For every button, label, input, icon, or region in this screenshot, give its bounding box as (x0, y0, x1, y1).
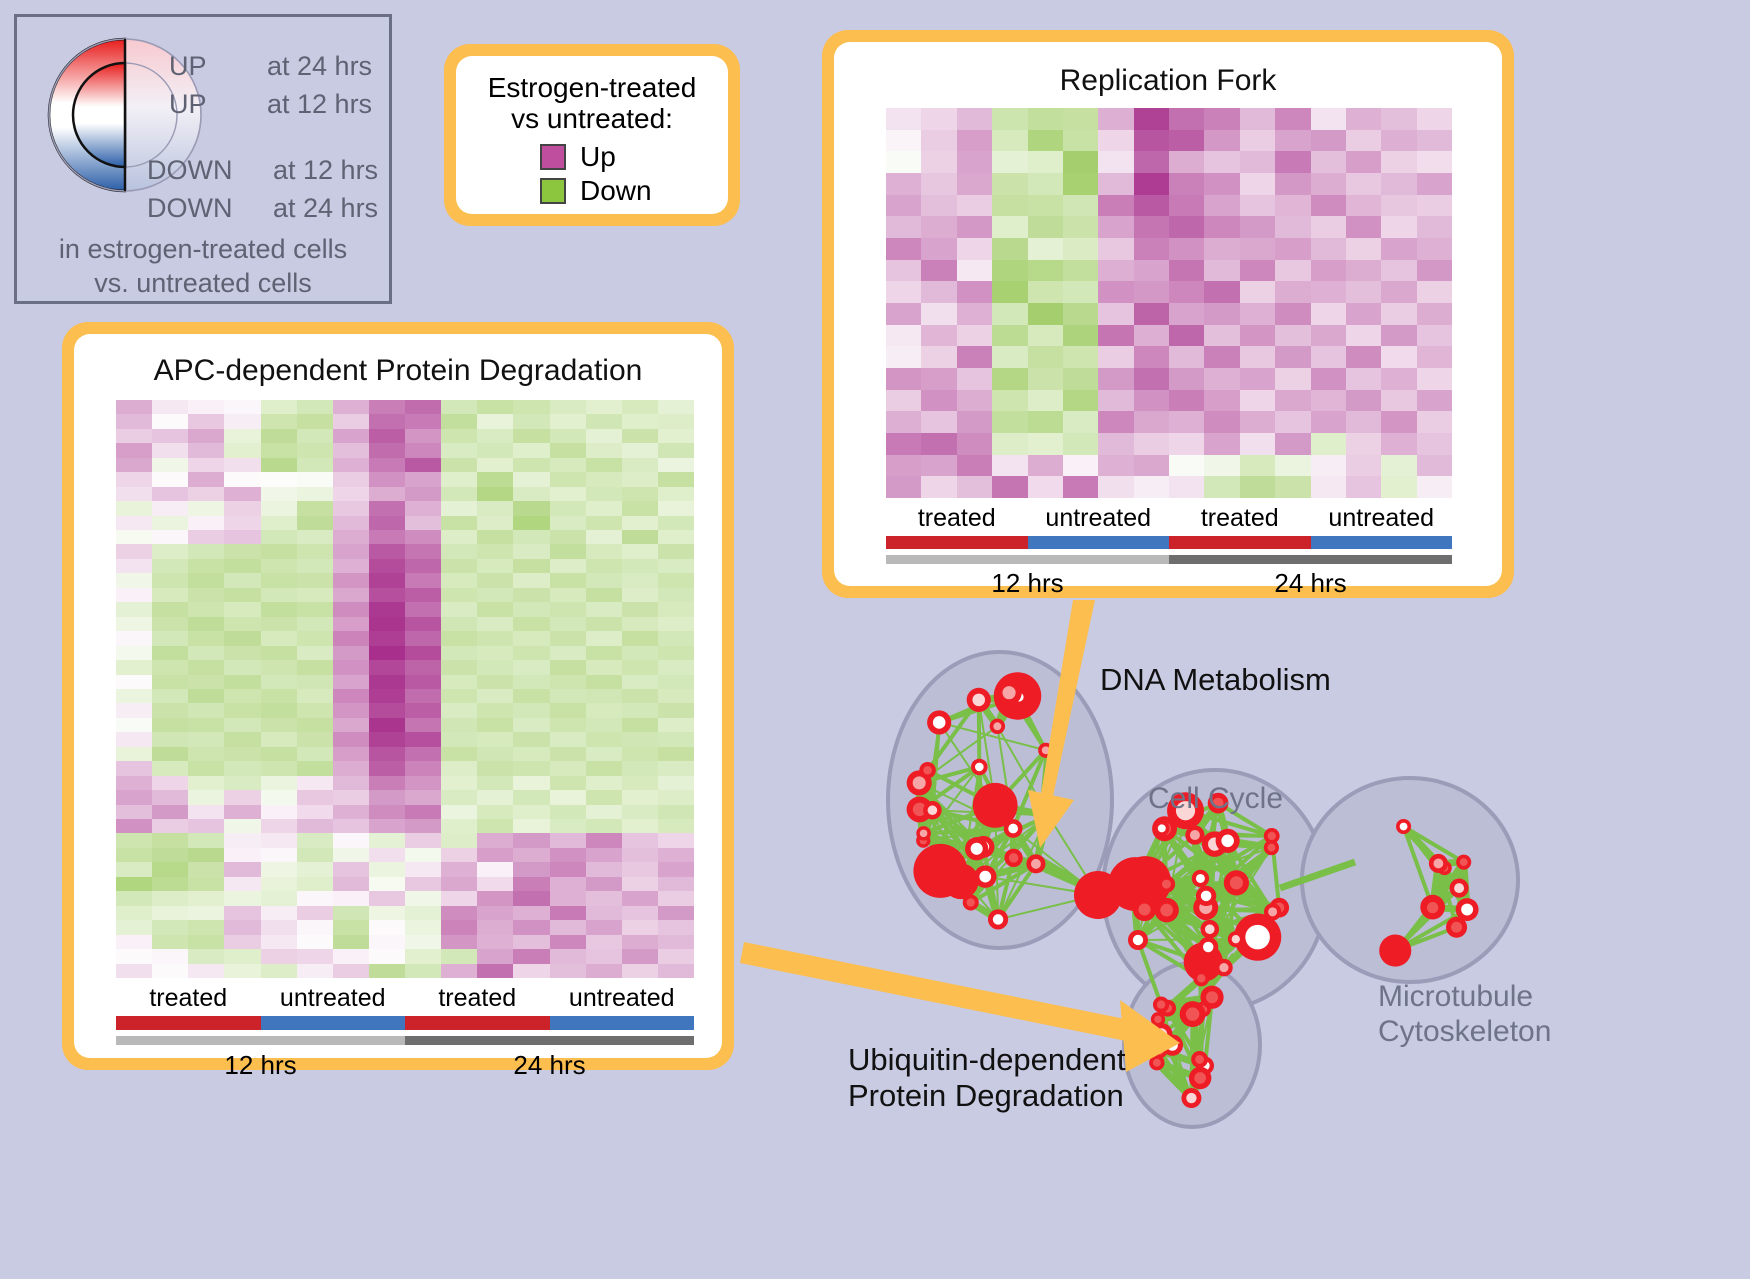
heatmap-cell (369, 443, 405, 457)
heatmap-cell (921, 216, 956, 238)
heatmap-cell (1240, 108, 1275, 130)
heatmap-cell (1063, 108, 1098, 130)
heatmap-cell (550, 920, 586, 934)
heatmap-cell (333, 617, 369, 631)
heatmap-cell (550, 429, 586, 443)
heatmap-cell (116, 964, 152, 978)
heatmap-cell (957, 390, 992, 412)
heatmap-cell (658, 935, 694, 949)
network-edge (1133, 888, 1144, 909)
heatmap-cell (586, 862, 622, 876)
heatmap-cell (297, 487, 333, 501)
heatmap-cell (297, 862, 333, 876)
network-edge (1206, 896, 1208, 947)
network-edge (1145, 910, 1204, 963)
network-node-core (1190, 830, 1200, 840)
heatmap-cell (116, 588, 152, 602)
heatmap-cell (513, 631, 549, 645)
heatmap-cell (261, 573, 297, 587)
network-edge (1203, 962, 1224, 967)
heatmap-cell (550, 617, 586, 631)
group-bar-segment (1169, 555, 1452, 564)
network-node-core (1009, 853, 1019, 863)
apc-time-label-12: 12 hrs (116, 1050, 405, 1081)
heatmap-cell (477, 675, 513, 689)
heatmap-cell (297, 761, 333, 775)
heatmap-cell (441, 805, 477, 819)
network-node (1193, 895, 1218, 920)
heatmap-cell (188, 949, 224, 963)
network-edge (1138, 940, 1224, 968)
heatmap-cell (1240, 411, 1275, 433)
heatmap-cell (586, 559, 622, 573)
network-node (1379, 935, 1411, 967)
heatmap-cell (188, 602, 224, 616)
network-node-core (1157, 1000, 1165, 1008)
heatmap-cell (297, 631, 333, 645)
heatmap-cell (886, 325, 921, 347)
heatmap-cell (513, 675, 549, 689)
heatmap-cell (1381, 390, 1416, 412)
heatmap-cell (297, 414, 333, 428)
heatmap-cell (622, 429, 658, 443)
network-edge (1133, 888, 1203, 962)
heatmap-cell (1240, 476, 1275, 498)
network-edge (1395, 888, 1459, 951)
heatmap-cell (405, 487, 441, 501)
heatmap-cell (1311, 238, 1346, 260)
heatmap-cell (658, 501, 694, 515)
legend-title-line1: Estrogen-treated (466, 72, 718, 103)
heatmap-cell (957, 433, 992, 455)
heatmap-cell (658, 544, 694, 558)
heatmap-cell (1028, 476, 1063, 498)
network-node (1264, 840, 1279, 855)
heatmap-cell (116, 530, 152, 544)
network-edge (961, 849, 977, 881)
network-edge (1191, 1009, 1203, 1098)
heatmap-cell (550, 819, 586, 833)
heatmap-cell (1063, 173, 1098, 195)
heatmap-cell (957, 325, 992, 347)
heatmap-cell (152, 443, 188, 457)
network-node-core (1400, 823, 1408, 831)
heatmap-cell (224, 732, 260, 746)
heatmap-cell (261, 617, 297, 631)
network-edge (1162, 828, 1167, 884)
heatmap-cell (1169, 281, 1204, 303)
replication-fork-time-bar (886, 555, 1452, 564)
group-bar-segment (1169, 536, 1311, 549)
network-node-core (1205, 924, 1215, 934)
heatmap-cell (224, 617, 260, 631)
heatmap-cell (333, 848, 369, 862)
heatmap-cell (1275, 303, 1310, 325)
legend-items: Up Down (466, 141, 718, 207)
heatmap-cell (477, 458, 513, 472)
network-edge (919, 783, 985, 877)
heatmap-cell (333, 718, 369, 732)
network-node-core (1426, 901, 1439, 914)
heatmap-cell (957, 455, 992, 477)
network-node (1151, 1012, 1165, 1026)
network-edge (1200, 878, 1209, 929)
heatmap-cell (1417, 173, 1452, 195)
network-node (1216, 829, 1240, 853)
network-node (907, 796, 933, 822)
network-edge (923, 841, 983, 847)
network-edge (1200, 1009, 1203, 1078)
heatmap-cell (658, 458, 694, 472)
network-edge (1013, 750, 1046, 828)
heatmap-cell (1063, 325, 1098, 347)
network-edge (1166, 883, 1236, 884)
heatmap-cell (513, 458, 549, 472)
network-node-core (1162, 880, 1171, 889)
heatmap-cell (116, 703, 152, 717)
heatmap-cell (261, 776, 297, 790)
up-color-swatch (540, 144, 566, 170)
heatmap-cell (658, 602, 694, 616)
heatmap-cell (1169, 411, 1204, 433)
heatmap-cell (658, 732, 694, 746)
heatmap-cell (1275, 195, 1310, 217)
heatmap-cell (513, 833, 549, 847)
heatmap-cell (1169, 130, 1204, 152)
heatmap-cell (224, 429, 260, 443)
network-edge (998, 895, 1098, 919)
heatmap-cell (1311, 108, 1346, 130)
heatmap-cell (992, 303, 1027, 325)
network-edge (1160, 1009, 1203, 1050)
heatmap-cell (477, 964, 513, 978)
network-edge (1272, 836, 1280, 908)
heatmap-cell (622, 660, 658, 674)
heatmap-cell (586, 703, 622, 717)
heatmap-cell (333, 487, 369, 501)
heatmap-cell (1275, 151, 1310, 173)
heatmap-cell (1098, 195, 1133, 217)
heatmap-cell (441, 544, 477, 558)
heatmap-cell (441, 718, 477, 732)
heatmap-cell (297, 689, 333, 703)
heatmap-cell (441, 819, 477, 833)
heatmap-cell (1381, 173, 1416, 195)
heatmap-cell (441, 703, 477, 717)
heatmap-cell (152, 414, 188, 428)
heatmap-cell (152, 487, 188, 501)
heatmap-cell (1028, 390, 1063, 412)
network-edge (1433, 908, 1468, 910)
network-edge (1138, 940, 1161, 1005)
heatmap-cell (513, 964, 549, 978)
network-node-core (1167, 1040, 1178, 1051)
heatmap-cell (369, 718, 405, 732)
apc-degradation-inner: APC-dependent Protein Degradation treate… (74, 334, 722, 1058)
heatmap-cell (261, 646, 297, 660)
network-edge (1048, 815, 1098, 895)
heatmap-cell (369, 935, 405, 949)
network-node-core (1186, 1093, 1196, 1103)
network-edge (1215, 844, 1236, 939)
heatmap-cell (224, 877, 260, 891)
rf-time-label-24: 24 hrs (1169, 568, 1452, 599)
network-edge (1145, 882, 1206, 908)
heatmap-cell (477, 414, 513, 428)
heatmap-cell (152, 920, 188, 934)
heatmap-cell (261, 833, 297, 847)
heatmap-cell (333, 660, 369, 674)
heatmap-cell (992, 260, 1027, 282)
network-node (1159, 1000, 1176, 1017)
heatmap-cell (1240, 238, 1275, 260)
heatmap-cell (513, 790, 549, 804)
network-node-core (1454, 883, 1464, 893)
network-edge (995, 805, 1013, 828)
heatmap-cell (224, 920, 260, 934)
heatmap-cell (550, 703, 586, 717)
heatmap-cell (116, 718, 152, 732)
heatmap-cell (1346, 151, 1381, 173)
heatmap-cell (658, 689, 694, 703)
heatmap-cell (658, 718, 694, 732)
heatmap-cell (224, 862, 260, 876)
heatmap-cell (152, 573, 188, 587)
heatmap-cell (658, 660, 694, 674)
heatmap-cell (550, 588, 586, 602)
network-edge (1210, 912, 1273, 929)
heatmap-cell (152, 501, 188, 515)
network-edge (924, 805, 996, 833)
heatmap-cell (188, 501, 224, 515)
down-color-swatch (540, 178, 566, 204)
heatmap-cell (550, 443, 586, 457)
heatmap-cell (224, 472, 260, 486)
legend-item-down: Down (540, 175, 718, 207)
network-edge (1228, 841, 1273, 912)
heatmap-cell (1063, 390, 1098, 412)
network-edge (924, 833, 986, 876)
heatmap-cell (369, 487, 405, 501)
network-edge (919, 770, 927, 783)
heatmap-cell (921, 195, 956, 217)
heatmap-cell (152, 732, 188, 746)
heatmap-cell (586, 833, 622, 847)
heatmap-cell (261, 891, 297, 905)
heatmap-cell (152, 544, 188, 558)
network-edge (1036, 864, 1098, 895)
heatmap-cell (658, 790, 694, 804)
heatmap-cell (477, 862, 513, 876)
network-edge (997, 693, 1009, 727)
heatmap-cell (261, 516, 297, 530)
heatmap-cell (297, 935, 333, 949)
heatmap-cell (188, 732, 224, 746)
heatmap-cell (1204, 411, 1239, 433)
heatmap-cell (1311, 346, 1346, 368)
network-node-core (1196, 874, 1205, 883)
heatmap-cell (1204, 325, 1239, 347)
heatmap-cell (513, 602, 549, 616)
network-edge (940, 871, 970, 903)
network-edge (979, 700, 980, 767)
heatmap-cell (224, 573, 260, 587)
replication-fork-panel: Replication Fork treated untreated treat… (822, 30, 1514, 598)
network-edge (1206, 908, 1210, 930)
heatmap-cell (1134, 433, 1169, 455)
heatmap-cell (369, 833, 405, 847)
network-edge (971, 849, 977, 903)
network-edge (1195, 835, 1206, 896)
network-edge (1167, 910, 1224, 967)
network-edge (928, 770, 961, 881)
network-edge (1404, 827, 1464, 863)
heatmap-cell (369, 530, 405, 544)
heatmap-cell (1417, 238, 1452, 260)
heatmap-cell (550, 848, 586, 862)
heatmap-cell (405, 516, 441, 530)
network-edge (997, 726, 1048, 815)
heatmap-cell (622, 877, 658, 891)
heatmap-cell (1204, 368, 1239, 390)
heatmap-cell (1311, 368, 1346, 390)
heatmap-cell (1381, 108, 1416, 130)
network-edge (1167, 910, 1209, 947)
heatmap-cell (1240, 433, 1275, 455)
heatmap-cell (1098, 108, 1133, 130)
heatmap-cell (550, 559, 586, 573)
heatmap-cell (333, 501, 369, 515)
heatmap-cell (261, 631, 297, 645)
network-edge (1191, 1014, 1192, 1098)
network-edge (979, 767, 1013, 829)
heatmap-cell (477, 689, 513, 703)
heatmap-cell (369, 602, 405, 616)
heatmap-cell (586, 429, 622, 443)
heatmap-cell (333, 862, 369, 876)
heatmap-cell (297, 588, 333, 602)
heatmap-cell (477, 544, 513, 558)
heatmap-cell (477, 906, 513, 920)
heatmap-cell (261, 703, 297, 717)
network-edge (919, 700, 979, 783)
network-node (1004, 849, 1022, 867)
heatmap-cell (477, 805, 513, 819)
heatmap-cell (1204, 303, 1239, 325)
network-node (1158, 875, 1175, 892)
heatmap-cell (224, 646, 260, 660)
network-edge (1186, 811, 1207, 896)
heatmap-cell (1098, 216, 1133, 238)
heatmap-cell (513, 935, 549, 949)
group-bar-segment (116, 1036, 405, 1045)
network-edge (932, 810, 1013, 858)
heatmap-cell (116, 805, 152, 819)
heatmap-cell (1169, 238, 1204, 260)
network-edge (1200, 878, 1279, 907)
heatmap-cell (261, 718, 297, 732)
network-edge (1167, 910, 1236, 939)
heatmap-cell (224, 703, 260, 717)
network-edge (985, 877, 998, 920)
network-edge (983, 847, 1013, 858)
network-edge (1036, 815, 1048, 863)
heatmap-cell (188, 675, 224, 689)
heatmap-cell (224, 805, 260, 819)
heatmap-cell (152, 516, 188, 530)
network-edge (932, 810, 1013, 828)
network-edge (983, 805, 995, 847)
network-node (1189, 1067, 1211, 1089)
network-edge (1433, 862, 1464, 907)
key-caption-line2: vs. untreated cells (17, 267, 389, 301)
network-edge (985, 815, 1048, 876)
heatmap-cell (1134, 476, 1169, 498)
heatmap-cell (622, 848, 658, 862)
heatmap-cell (550, 790, 586, 804)
network-edge (1133, 888, 1138, 940)
network-edge (1208, 939, 1236, 947)
network-edge (1206, 908, 1273, 912)
heatmap-cell (152, 833, 188, 847)
heatmap-cell (1098, 390, 1133, 412)
network-node (967, 688, 991, 712)
heatmap-cell (622, 646, 658, 660)
network-edge (1203, 908, 1279, 962)
network-edge (1168, 1008, 1203, 1009)
heatmap-cell (152, 906, 188, 920)
heatmap-cell (622, 559, 658, 573)
network-edge (923, 767, 979, 841)
network-node-core (933, 716, 946, 729)
heatmap-cell (1346, 476, 1381, 498)
heatmap-cell (1381, 303, 1416, 325)
heatmap-cell (513, 617, 549, 631)
heatmap-cell (513, 776, 549, 790)
heatmap-cell (622, 544, 658, 558)
heatmap-cell (658, 761, 694, 775)
network-node-core (1158, 822, 1171, 835)
heatmap-cell (992, 238, 1027, 260)
heatmap-cell (224, 588, 260, 602)
heatmap-cell (297, 400, 333, 414)
network-edge (1133, 841, 1227, 889)
heatmap-cell (1240, 173, 1275, 195)
network-edge (1158, 997, 1212, 1019)
network-edge (1167, 883, 1237, 910)
network-node (996, 680, 1021, 705)
heatmap-cell (261, 906, 297, 920)
heatmap-cell (405, 660, 441, 674)
network-edge (961, 829, 1014, 882)
heatmap-cell (513, 429, 549, 443)
network-edge (928, 770, 933, 810)
network-edge (1195, 835, 1236, 939)
heatmap-cell (622, 516, 658, 530)
network-edge (1138, 878, 1200, 940)
heatmap-cell (477, 429, 513, 443)
heatmap-cell (297, 747, 333, 761)
heatmap-cell (957, 260, 992, 282)
network-edge (1395, 907, 1432, 950)
heatmap-cell (188, 559, 224, 573)
network-edge (1162, 828, 1206, 896)
heatmap-cell (658, 429, 694, 443)
heatmap-cell (1063, 368, 1098, 390)
network-edge (923, 770, 927, 840)
network-edge (1145, 882, 1166, 910)
heatmap-cell (658, 805, 694, 819)
